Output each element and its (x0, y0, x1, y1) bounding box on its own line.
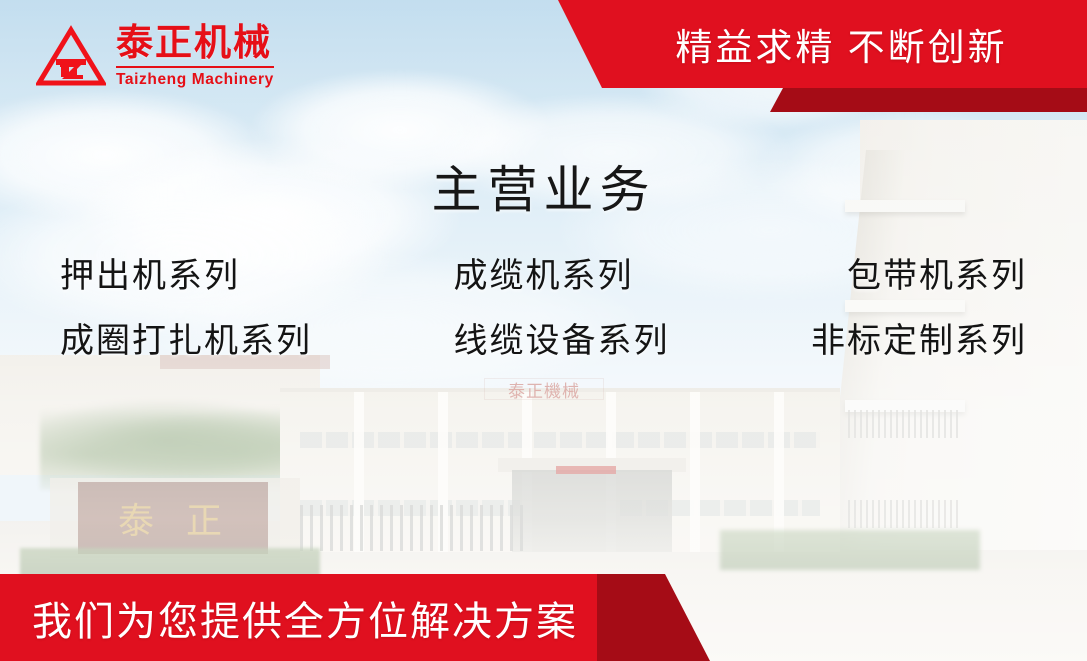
rooftop-company-sign: 泰正機械 (484, 378, 604, 400)
series-item-taping-machine[interactable]: 包带机系列 (847, 248, 1027, 297)
bottom-ribbon-inner: 我们为您提供全方位解决方案 (0, 574, 597, 661)
business-series-grid: 押出机系列 成缆机系列 包带机系列 成圈打扎机系列 线缆设备系列 非标定制系列 (60, 248, 1027, 378)
top-ribbon-shadow (770, 88, 1087, 112)
promotional-banner: 泰正機械 泰 正 泰正机械 Taizheng Machinery 精益求精 不断… (0, 0, 1087, 661)
bottom-slogan: 我们为您提供全方位解决方案 (32, 589, 578, 647)
series-item-cabling-machine[interactable]: 成缆机系列 (454, 248, 634, 297)
logo-name-en: Taizheng Machinery (116, 71, 274, 89)
factory-gate (512, 470, 672, 552)
top-ribbon-inner: 精益求精 不断创新 (548, 0, 1087, 88)
stone-monument-text: 泰 正 (78, 482, 268, 554)
balcony-railing (848, 500, 958, 528)
gate-sign (556, 466, 616, 474)
series-item-coiling-binding-machine[interactable]: 成圈打扎机系列 (60, 313, 312, 362)
page-title: 主营业务 (0, 150, 1087, 222)
balcony-railing (848, 410, 958, 438)
logo-name-cn: 泰正机械 (116, 24, 274, 64)
series-row: 押出机系列 成缆机系列 包带机系列 (60, 248, 1027, 297)
top-slogan: 精益求精 不断创新 (675, 17, 1007, 71)
series-item-custom-nonstandard[interactable]: 非标定制系列 (811, 313, 1027, 362)
logo-wordmark: 泰正机械 Taizheng Machinery (116, 24, 274, 89)
monument-char-1: 泰 (118, 492, 160, 544)
triangle-tz-monogram-icon (36, 25, 106, 87)
logo-divider (116, 66, 274, 68)
perimeter-fence (300, 505, 530, 551)
company-logo[interactable]: 泰正机械 Taizheng Machinery (36, 24, 274, 89)
monument-char-2: 正 (186, 492, 228, 544)
bottom-ribbon: 我们为您提供全方位解决方案 (0, 574, 597, 661)
series-item-extruder[interactable]: 押出机系列 (60, 248, 240, 297)
hedge (720, 530, 980, 570)
series-item-cable-equipment[interactable]: 线缆设备系列 (454, 313, 670, 362)
top-ribbon: 精益求精 不断创新 (548, 0, 1087, 88)
headline-text: 主营业务 (432, 162, 656, 218)
series-row: 成圈打扎机系列 线缆设备系列 非标定制系列 (60, 313, 1027, 362)
